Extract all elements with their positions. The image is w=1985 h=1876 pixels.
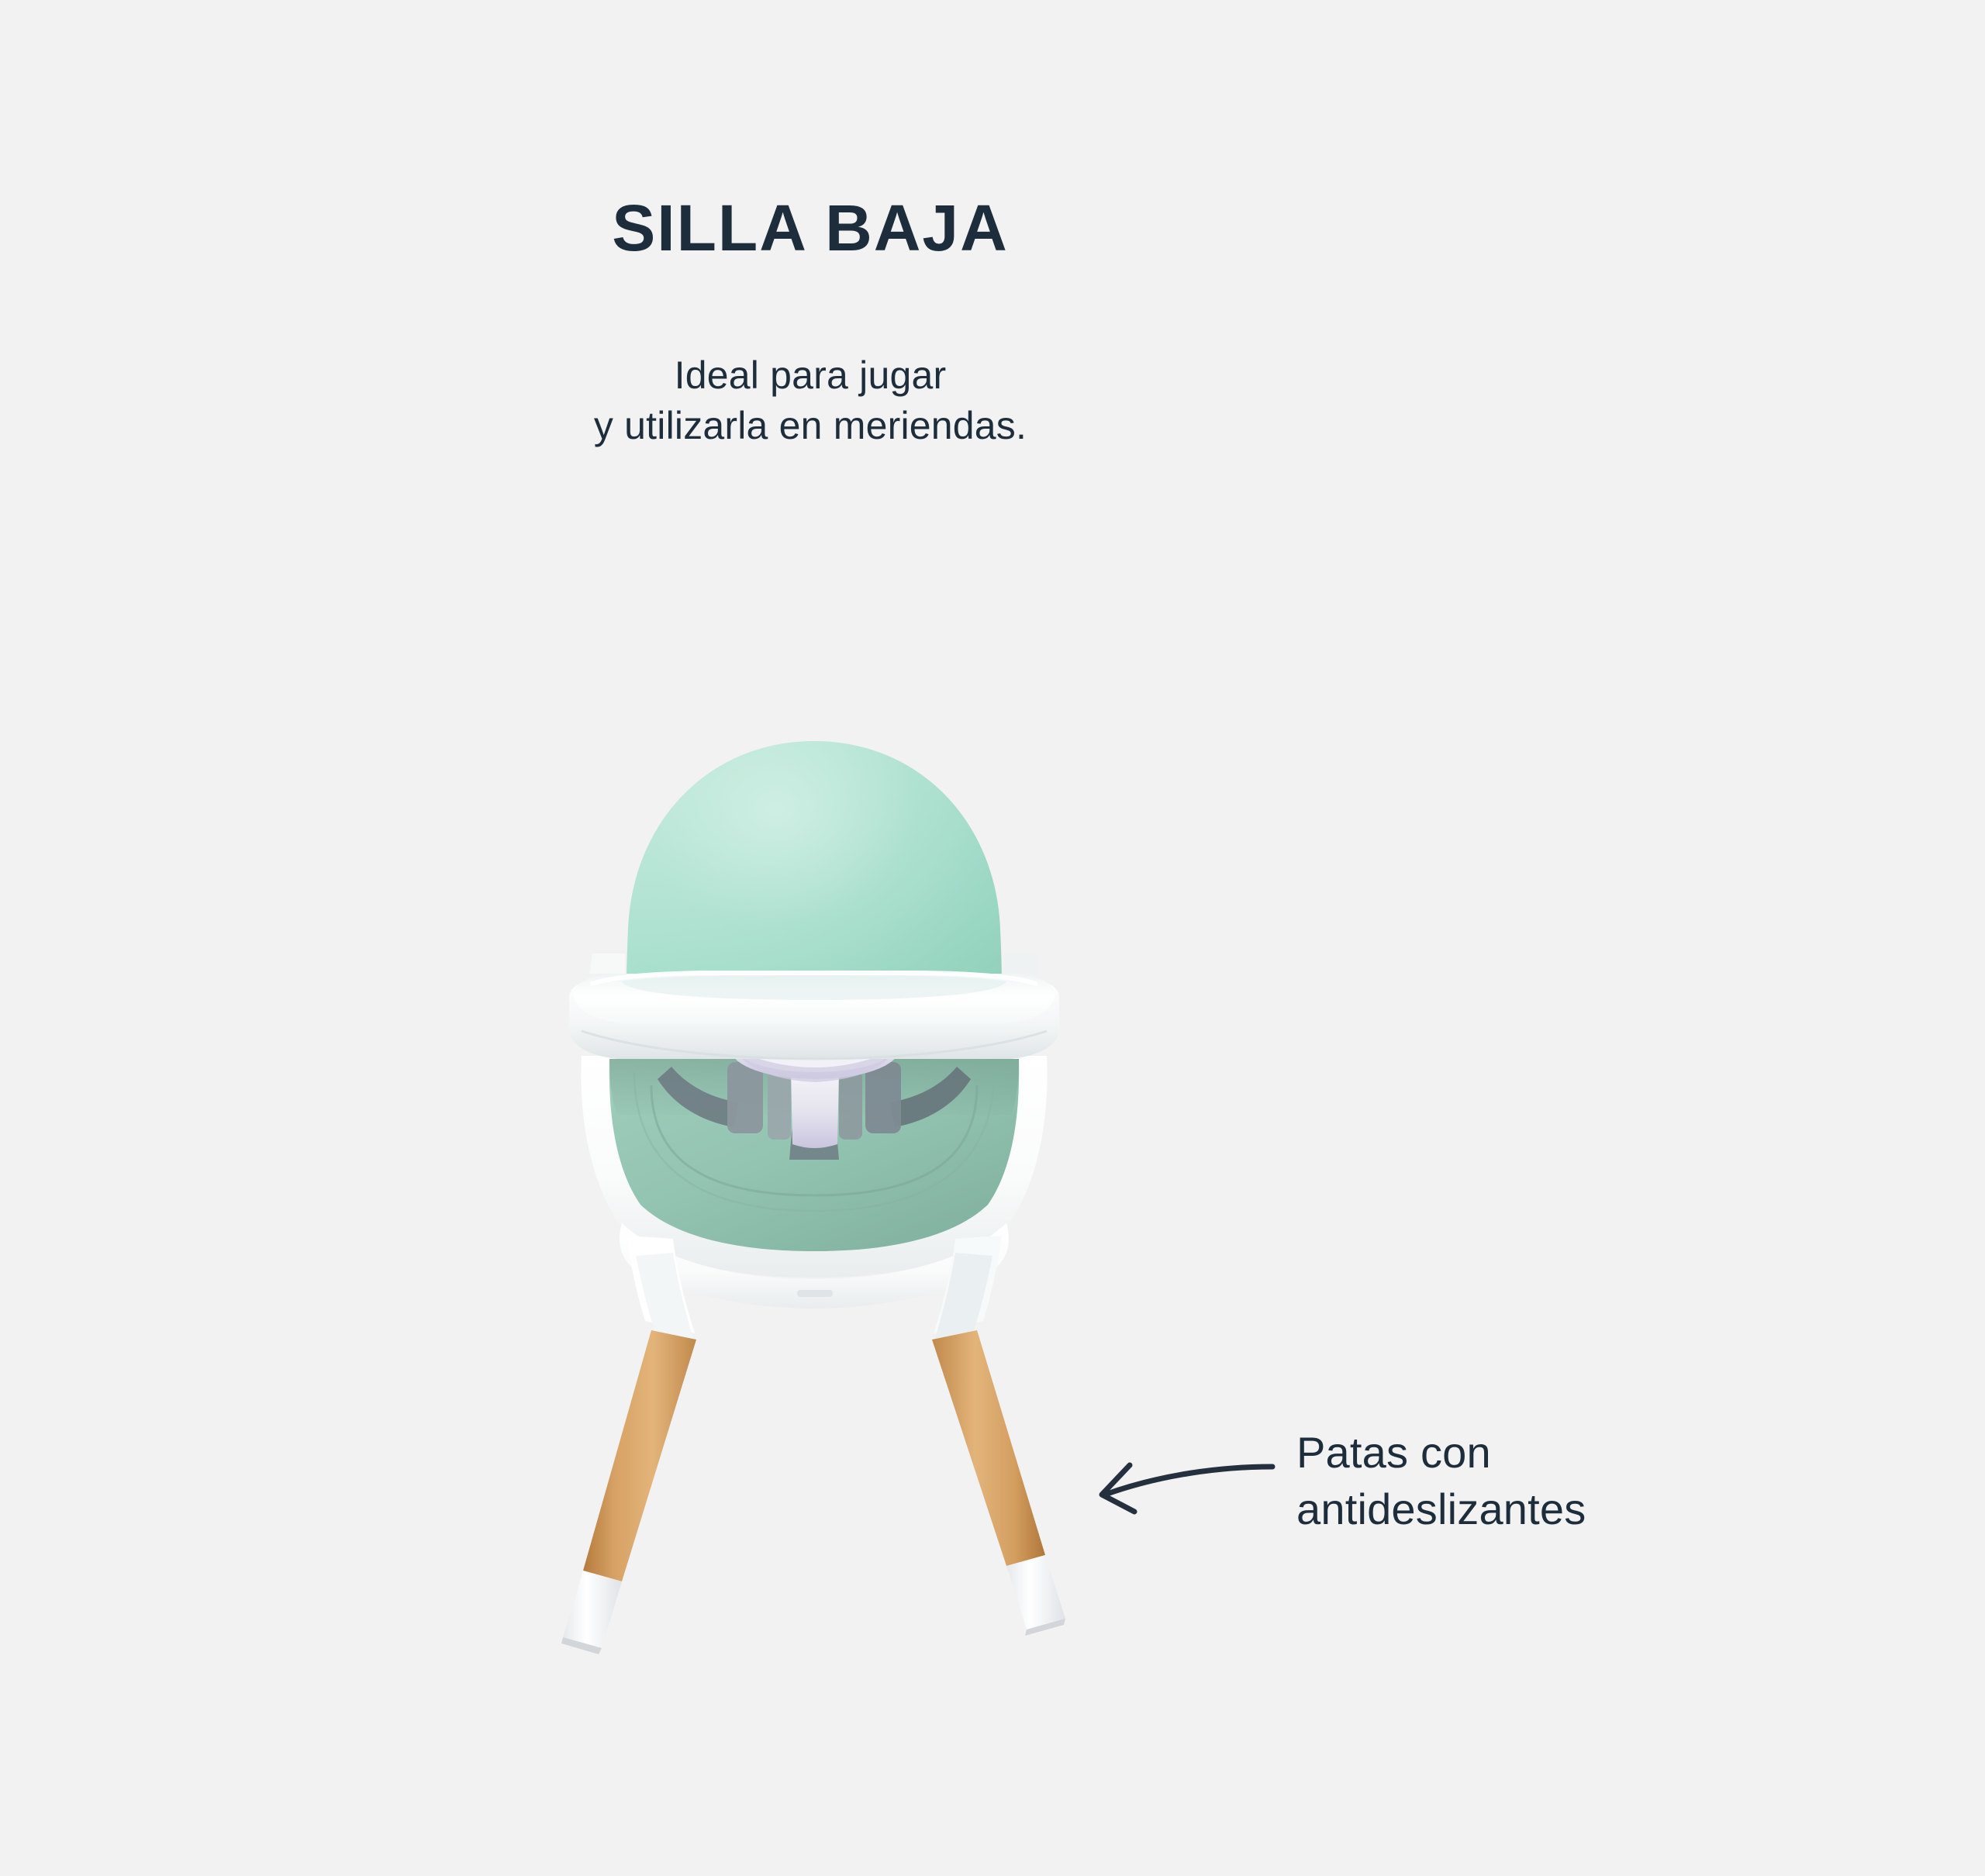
arrow-left-curved-icon [1102, 1465, 1272, 1512]
callout-text-block: Patas con antideslizantes [1296, 1425, 1586, 1538]
leg-right-antislip-cap [1006, 1555, 1065, 1629]
leg-left-wood [583, 1330, 696, 1581]
callout-line-2: antideslizantes [1296, 1481, 1586, 1538]
subtitle-line-2: y utilizarla en meriendas. [0, 401, 1621, 451]
chair-legs [561, 1330, 1065, 1654]
header-block: SILLA BAJA [0, 194, 1621, 262]
product-image-high-chair: Carestino [535, 721, 1093, 1636]
leg-left-antislip-cap [563, 1571, 622, 1648]
subtitle-line-1: Ideal para jugar [0, 350, 1621, 401]
callout-line-1: Patas con [1296, 1425, 1586, 1481]
leg-right-wood [932, 1330, 1045, 1566]
infographic-canvas: SILLA BAJA Ideal para jugar y utilizarla… [0, 0, 1985, 1876]
subtitle-block: Ideal para jugar y utilizarla en meriend… [0, 350, 1621, 451]
page-title: SILLA BAJA [0, 194, 1621, 262]
callout-arrow-container [1089, 1443, 1276, 1513]
